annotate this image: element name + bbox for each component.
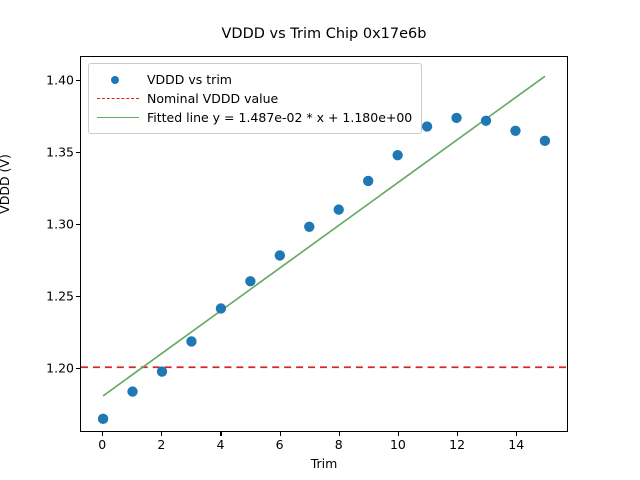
- legend-solid-line-icon: [97, 111, 139, 125]
- data-point: [157, 366, 167, 376]
- y-tick-label: 1.35: [30, 144, 74, 159]
- figure-canvas: VDDD vs Trim Chip 0x17e6b VDDD (V) Trim …: [0, 0, 640, 480]
- x-tick-label: 4: [200, 437, 240, 452]
- data-point: [216, 303, 226, 313]
- y-tick-label: 1.40: [30, 72, 74, 87]
- x-tick-label: 12: [437, 437, 477, 452]
- data-point: [392, 150, 402, 160]
- x-tick-mark: [339, 432, 340, 436]
- legend-item[interactable]: Nominal VDDD value: [97, 89, 412, 108]
- data-point: [422, 121, 432, 131]
- data-point: [127, 386, 137, 396]
- legend: VDDD vs trimNominal VDDD valueFitted lin…: [88, 63, 422, 134]
- x-axis-label: Trim: [80, 456, 568, 471]
- legend-item[interactable]: Fitted line y = 1.487e-02 * x + 1.180e+0…: [97, 108, 412, 127]
- x-tick-mark: [398, 432, 399, 436]
- data-point: [245, 276, 255, 286]
- x-tick-mark: [102, 432, 103, 436]
- data-point: [304, 222, 314, 232]
- page-title: VDDD vs Trim Chip 0x17e6b: [80, 26, 568, 42]
- data-point: [98, 414, 108, 424]
- data-point: [363, 176, 373, 186]
- x-tick-mark: [220, 432, 221, 436]
- y-tick-label: 1.25: [30, 288, 74, 303]
- y-tick-label: 1.20: [30, 360, 74, 375]
- x-tick-mark: [161, 432, 162, 436]
- data-point: [481, 116, 491, 126]
- scatter-points: [98, 113, 550, 424]
- data-point: [186, 336, 196, 346]
- circle-marker-icon: [111, 76, 119, 84]
- x-tick-label: 6: [260, 437, 300, 452]
- legend-item-label: Nominal VDDD value: [147, 91, 278, 106]
- x-tick-label: 10: [378, 437, 418, 452]
- legend-item[interactable]: VDDD vs trim: [97, 70, 412, 89]
- solid-line-icon: [97, 117, 139, 118]
- x-tick-mark: [516, 432, 517, 436]
- data-point: [451, 113, 461, 123]
- dashed-line-icon: [97, 98, 139, 99]
- legend-item-label: VDDD vs trim: [147, 72, 232, 87]
- data-point: [275, 250, 285, 260]
- data-point: [334, 204, 344, 214]
- x-tick-label: 0: [82, 437, 122, 452]
- x-tick-mark: [457, 432, 458, 436]
- x-tick-label: 8: [319, 437, 359, 452]
- x-tick-mark: [280, 432, 281, 436]
- x-tick-label: 14: [496, 437, 536, 452]
- legend-marker-icon: [97, 73, 139, 87]
- legend-item-label: Fitted line y = 1.487e-02 * x + 1.180e+0…: [147, 110, 412, 125]
- x-tick-label: 2: [141, 437, 181, 452]
- data-point: [540, 136, 550, 146]
- legend-dashed-line-icon: [97, 92, 139, 106]
- y-tick-label: 1.30: [30, 216, 74, 231]
- y-axis-label: VDDD (V): [0, 124, 12, 244]
- data-point: [510, 126, 520, 136]
